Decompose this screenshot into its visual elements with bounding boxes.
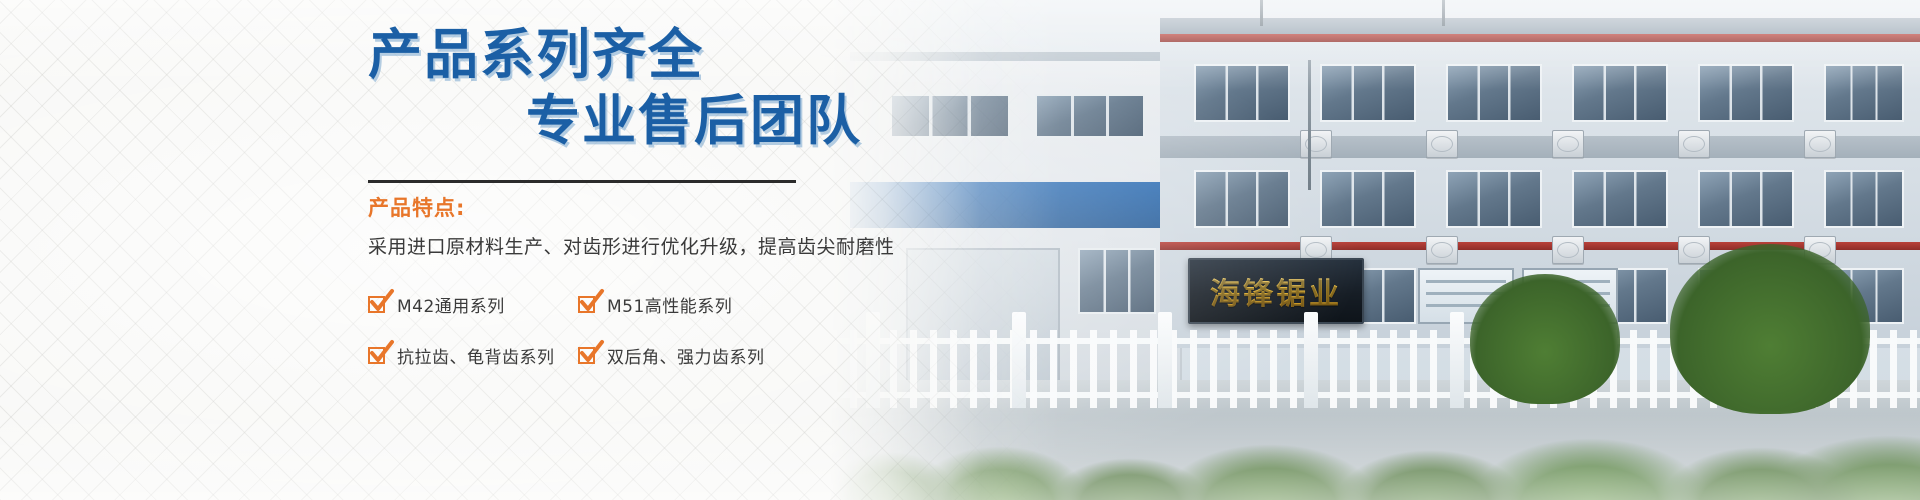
workshop-blue-band [850, 182, 1180, 228]
hedge [830, 392, 1920, 500]
checkbox-checked-icon [368, 296, 385, 313]
air-conditioner-unit [1678, 236, 1710, 264]
air-conditioner-unit [1804, 130, 1836, 158]
roof-pole [1442, 0, 1445, 26]
checkbox-checked-icon [578, 296, 595, 313]
downspout [1308, 60, 1311, 190]
feature-item: 双后角、强力齿系列 [578, 343, 808, 368]
company-signboard: 海锋锯业 [1188, 258, 1364, 324]
air-conditioner-unit [1426, 130, 1458, 158]
roof-pole [1260, 0, 1263, 26]
tree [1670, 244, 1870, 414]
building-window [1446, 64, 1542, 122]
building-window [1320, 64, 1416, 122]
checkbox-checked-icon [578, 347, 595, 364]
building-window [1572, 170, 1668, 228]
building-window [1572, 64, 1668, 122]
feature-list: M42通用系列 M51高性能系列 抗拉齿、龟背齿系列 [368, 292, 808, 368]
air-conditioner-unit [1300, 130, 1332, 158]
headline-line-1: 产品系列齐全 [368, 23, 704, 86]
feature-description: 采用进口原材料生产、对齿形进行优化升级，提高齿尖耐磨性 [368, 232, 895, 259]
building-window [1698, 64, 1794, 122]
divider-rule [368, 180, 796, 183]
headline: 产品系列齐全 专业售后团队 [368, 24, 862, 152]
banner-content: 产品系列齐全 专业售后团队 产品特点: 采用进口原材料生产、对齿形进行优化升级，… [0, 0, 860, 500]
workshop-window [1035, 94, 1145, 138]
building-window [1194, 64, 1290, 122]
promo-banner: 海锋锯业 产品系列齐全 专业售后团队 产品特点: [0, 0, 1920, 500]
feature-label: 双后角、强力齿系列 [607, 343, 765, 368]
feature-label: M51高性能系列 [607, 292, 732, 317]
feature-label: 抗拉齿、龟背齿系列 [397, 343, 555, 368]
building-red-trim [1160, 34, 1920, 42]
air-conditioner-unit [1426, 236, 1458, 264]
building-window [1824, 64, 1904, 122]
workshop-roofline [850, 52, 1180, 61]
air-conditioner-unit [1552, 130, 1584, 158]
feature-title: 产品特点: [368, 192, 465, 222]
air-conditioner-unit [1678, 130, 1710, 158]
checkbox-checked-icon [368, 347, 385, 364]
feature-item: M42通用系列 [368, 292, 578, 317]
feature-item: 抗拉齿、龟背齿系列 [368, 343, 578, 368]
factory-photo: 海锋锯业 [830, 0, 1920, 500]
building-window [1320, 170, 1416, 228]
air-conditioner-unit [1552, 236, 1584, 264]
building-window [1194, 170, 1290, 228]
feature-item: M51高性能系列 [578, 292, 808, 317]
building-window [1824, 170, 1904, 228]
signboard-text: 海锋锯业 [1210, 269, 1342, 313]
building-window [1446, 170, 1542, 228]
building-parapet [1160, 18, 1920, 34]
headline-line-2: 专业售后团队 [368, 90, 862, 152]
feature-label: M42通用系列 [397, 292, 505, 317]
workshop-window [1078, 248, 1156, 314]
tree [1470, 274, 1620, 404]
building-window [1698, 170, 1794, 228]
workshop-window [890, 94, 1010, 138]
